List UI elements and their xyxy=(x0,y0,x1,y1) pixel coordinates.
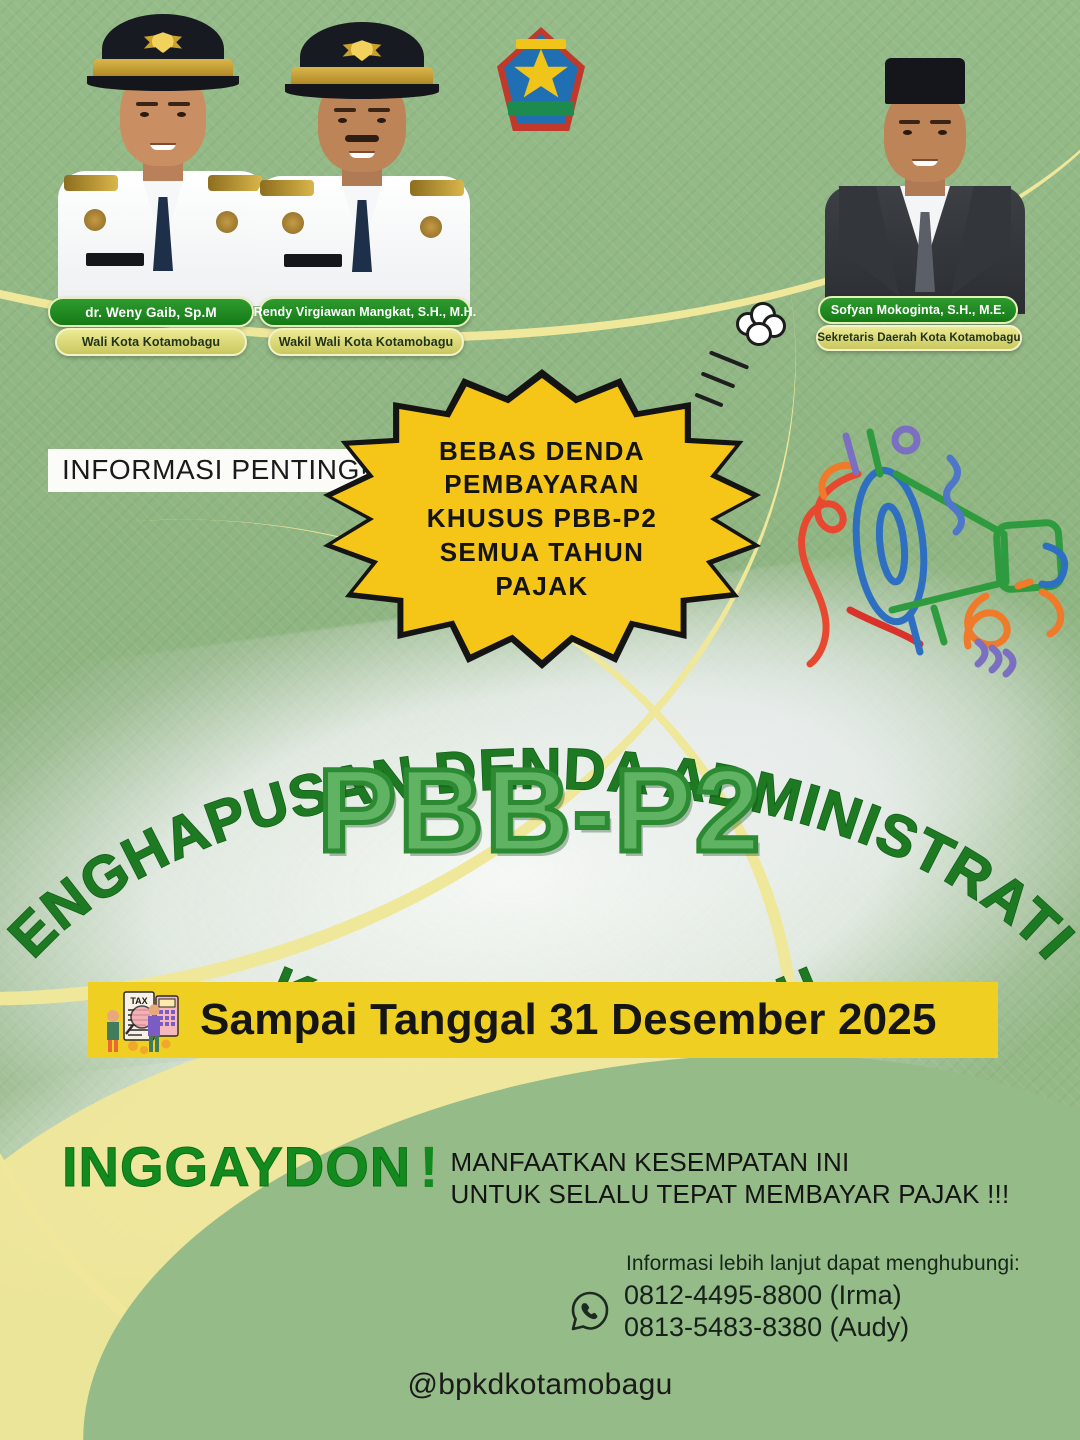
headline-pbb-p2: PBB-P2 xyxy=(0,752,1080,870)
slogan-subtext-line1: MANFAATKAN KESEMPATAN INI xyxy=(451,1146,1010,1178)
pill-name-mayor-label: dr. Weny Gaib, Sp.M xyxy=(85,305,216,320)
date-banner: TAX xyxy=(88,982,998,1058)
vice-mayor-cap-icon xyxy=(300,22,424,92)
speed-line-1 xyxy=(709,350,749,369)
slogan-exclamation: ! xyxy=(419,1140,438,1197)
contact-heading: Informasi lebih lanjut dapat menghubungi… xyxy=(626,1252,1020,1276)
burst-line-5: PAJAK xyxy=(495,571,588,603)
slogan-subtext-line2: UNTUK SELALU TEPAT MEMBAYAR PAJAK !!! xyxy=(451,1178,1010,1210)
slogan-word: INGGAYDON xyxy=(62,1140,411,1195)
cloud-puff-icon xyxy=(734,302,790,350)
mayor-cap-icon xyxy=(102,14,224,84)
burst-line-2: PEMBAYARAN xyxy=(444,469,640,501)
svg-text:TAX: TAX xyxy=(130,996,147,1006)
portrait-secretary xyxy=(818,24,1032,314)
burst-line-1: BEBAS DENDA xyxy=(439,436,645,468)
slogan-subtext: MANFAATKAN KESEMPATAN INI UNTUK SELALU T… xyxy=(451,1140,1010,1210)
portrait-mayor xyxy=(58,16,268,306)
secretary-peci-icon xyxy=(885,58,965,104)
contact-rows: 0812-4495-8800 (Irma) 0813-5483-8380 (Au… xyxy=(568,1279,1020,1344)
slogan-row: INGGAYDON ! MANFAATKAN KESEMPATAN INI UN… xyxy=(62,1140,1042,1210)
portrait-vice-mayor xyxy=(254,16,470,306)
pill-name-secretary: Sofyan Mokoginta, S.H., M.E. xyxy=(818,296,1018,324)
pill-role-mayor-label: Wali Kota Kotamobagu xyxy=(82,335,220,349)
contact-phone-1: 0812-4495-8800 (Irma) xyxy=(624,1279,909,1311)
poster-root: dr. Weny Gaib, Sp.M Wali Kota Kotamobagu… xyxy=(0,0,1080,1440)
bebas-denda-starburst: BEBAS DENDA PEMBAYARAN KHUSUS PBB-P2 SEM… xyxy=(332,378,752,660)
contact-block: Informasi lebih lanjut dapat menghubungi… xyxy=(568,1252,1020,1344)
starburst-text: BEBAS DENDA PEMBAYARAN KHUSUS PBB-P2 SEM… xyxy=(332,378,752,660)
footer-handle: @bpkdkotamobagu xyxy=(0,1368,1080,1402)
date-banner-text: Sampai Tanggal 31 Desember 2025 xyxy=(200,995,937,1045)
pill-name-vice-mayor: Rendy Virgiawan Mangkat, S.H., M.H. xyxy=(259,297,471,327)
pill-role-secretary: Sekretaris Daerah Kota Kotamobagu xyxy=(816,325,1022,351)
portrait-group-mayor-vice xyxy=(58,6,478,306)
pill-name-mayor: dr. Weny Gaib, Sp.M xyxy=(48,297,254,327)
contact-phone-2: 0813-5483-8380 (Audy) xyxy=(624,1311,909,1343)
whatsapp-icon[interactable] xyxy=(568,1289,612,1333)
city-emblem-icon xyxy=(497,27,585,131)
pill-role-vice-mayor: Wakil Wali Kota Kotamobagu xyxy=(268,328,464,356)
burst-line-4: SEMUA TAHUN xyxy=(440,537,645,569)
tax-illustration-icon: TAX xyxy=(102,984,186,1056)
megaphone-doodle-icon xyxy=(780,396,1076,680)
pill-role-secretary-label: Sekretaris Daerah Kota Kotamobagu xyxy=(817,332,1020,344)
burst-line-3: KHUSUS PBB-P2 xyxy=(427,503,658,535)
pill-role-mayor: Wali Kota Kotamobagu xyxy=(55,328,247,356)
pill-name-vice-mayor-label: Rendy Virgiawan Mangkat, S.H., M.H. xyxy=(254,305,477,319)
pill-role-vice-mayor-label: Wakil Wali Kota Kotamobagu xyxy=(279,335,454,349)
contact-phones: 0812-4495-8800 (Irma) 0813-5483-8380 (Au… xyxy=(624,1279,909,1344)
pill-name-secretary-label: Sofyan Mokoginta, S.H., M.E. xyxy=(831,303,1005,317)
